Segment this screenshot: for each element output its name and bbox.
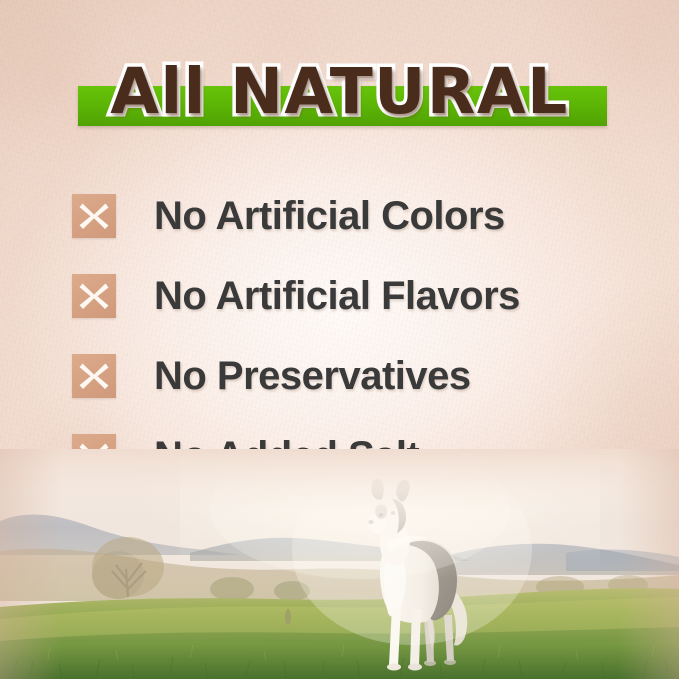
claim-label: No Artificial Flavors: [154, 274, 520, 319]
headline-text: All NATURAL: [0, 46, 679, 138]
product-feature-poster: All NATURAL No Artificial Colors No Arti…: [0, 0, 679, 679]
claims-list: No Artificial Colors No Artificial Flavo…: [72, 176, 632, 496]
claim-label: No Preservatives: [154, 354, 471, 399]
claim-item: No Artificial Colors: [72, 176, 632, 256]
x-mark-icon: [72, 194, 116, 238]
headline-block: All NATURAL: [0, 46, 679, 138]
x-mark-icon: [72, 354, 116, 398]
claim-item: No Artificial Flavors: [72, 256, 632, 336]
claim-item: No Preservatives: [72, 336, 632, 416]
landscape-photo: [0, 449, 679, 679]
x-mark-icon: [72, 274, 116, 318]
claim-label: No Artificial Colors: [154, 194, 505, 239]
